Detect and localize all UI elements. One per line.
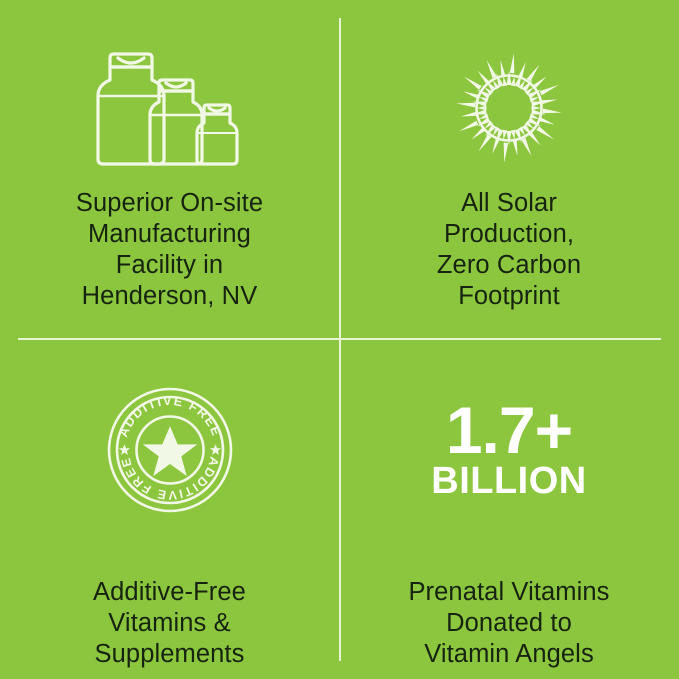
- stat-number: 1.7+: [446, 400, 572, 461]
- seal-side-star-right: [209, 444, 220, 455]
- donation-stat: 1.7+ BILLION: [431, 400, 586, 501]
- quadrant-caption: All Solar Production, Zero Carbon Footpr…: [437, 188, 581, 312]
- stat-block: 1.7+ BILLION: [431, 385, 586, 515]
- quadrant-caption: Superior On-site Manufacturing Facility …: [76, 188, 263, 312]
- quadrant-caption: Prenatal Vitamins Donated to Vitamin Ang…: [408, 577, 609, 670]
- supplement-bottles-icon: [89, 48, 251, 168]
- quadrant-caption: Additive-Free Vitamins & Supplements: [93, 577, 246, 670]
- additive-free-seal-icon: ADDITIVE FREE ADDITIVE FREE: [105, 385, 235, 515]
- benefits-infographic: Superior On-site Manufacturing Facility …: [0, 0, 679, 679]
- seal-side-star-left: [118, 444, 129, 455]
- quadrant-grid: Superior On-site Manufacturing Facility …: [0, 0, 679, 679]
- seal-center-star: [142, 426, 196, 476]
- quadrant-donation: 1.7+ BILLION Prenatal Vitamins Donated t…: [339, 339, 679, 679]
- quadrant-additive-free: ADDITIVE FREE ADDITIVE FREE: [0, 339, 339, 679]
- stat-unit: BILLION: [431, 462, 586, 500]
- quadrant-manufacturing: Superior On-site Manufacturing Facility …: [0, 0, 339, 339]
- quadrant-solar: All Solar Production, Zero Carbon Footpr…: [339, 0, 679, 339]
- sun-icon: [450, 48, 568, 168]
